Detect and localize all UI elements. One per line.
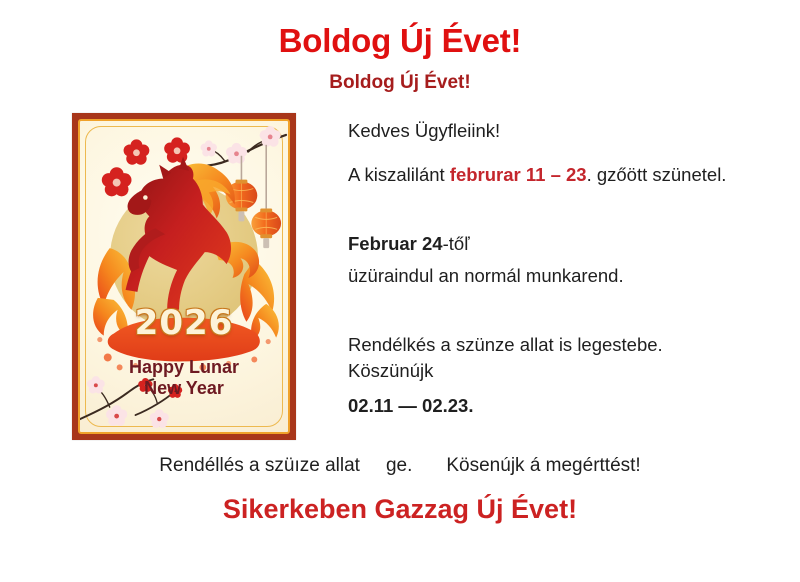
reopen-date: Februar 24 — [348, 233, 443, 254]
closing-greeting: Sikerkeben Gazzag Új Évet! — [0, 494, 800, 525]
announcement-body: Kedves Ügyfleiink! A kiszalilánt februra… — [348, 118, 768, 437]
reopen-date-line: Februar 24-tőľ — [348, 231, 768, 257]
orders-note-line1: Rendélkés a szünze allat is legestebe. — [348, 334, 663, 355]
footer-note: Rendéllés a szüıze allatge.Kösenújk á me… — [0, 455, 800, 477]
closure-date-range: februrar 11 – 23 — [450, 164, 587, 185]
page-subtitle: Boldog Új Évet! — [0, 72, 800, 94]
poster-frame: 2026 Happy Lunar New Year — [78, 119, 290, 434]
page-title: Boldog Új Évet! — [0, 22, 800, 60]
orders-note-line2: Köszünújk — [348, 360, 433, 381]
reopen-description: üzüraindul an normál munkarend. — [348, 263, 768, 289]
footer-note-part2: ge. — [386, 455, 412, 476]
closure-paragraph: A kiszalilánt februrar 11 – 23. gzőött s… — [348, 162, 768, 188]
footer-note-part1: Rendéllés a szüıze allat — [159, 455, 360, 476]
new-year-announcement-page: { "header": { "title": "Boldog Új Évet!"… — [0, 0, 800, 582]
poster-greeting-line2: New Year — [80, 378, 288, 399]
reopen-date-suffix: -tőľ — [443, 233, 470, 254]
poster-greeting: Happy Lunar New Year — [80, 357, 288, 399]
orders-note: Rendélkés a szünze allat is legestebe. K… — [348, 332, 768, 383]
salutation: Kedves Ügyfleiink! — [348, 118, 768, 144]
lunar-new-year-poster: 2026 Happy Lunar New Year — [72, 113, 296, 440]
closure-text-before: A kiszalilánt — [348, 164, 450, 185]
poster-canvas: 2026 Happy Lunar New Year — [80, 121, 288, 432]
poster-greeting-line1: Happy Lunar — [80, 357, 288, 378]
footer-note-part3: Kösenújk á megérttést! — [446, 455, 640, 476]
closure-text-after: . gzőött szünetel. — [587, 164, 727, 185]
poster-year-label: 2026 — [80, 303, 288, 343]
date-range-summary: 02.11 — 02.23. — [348, 393, 768, 419]
